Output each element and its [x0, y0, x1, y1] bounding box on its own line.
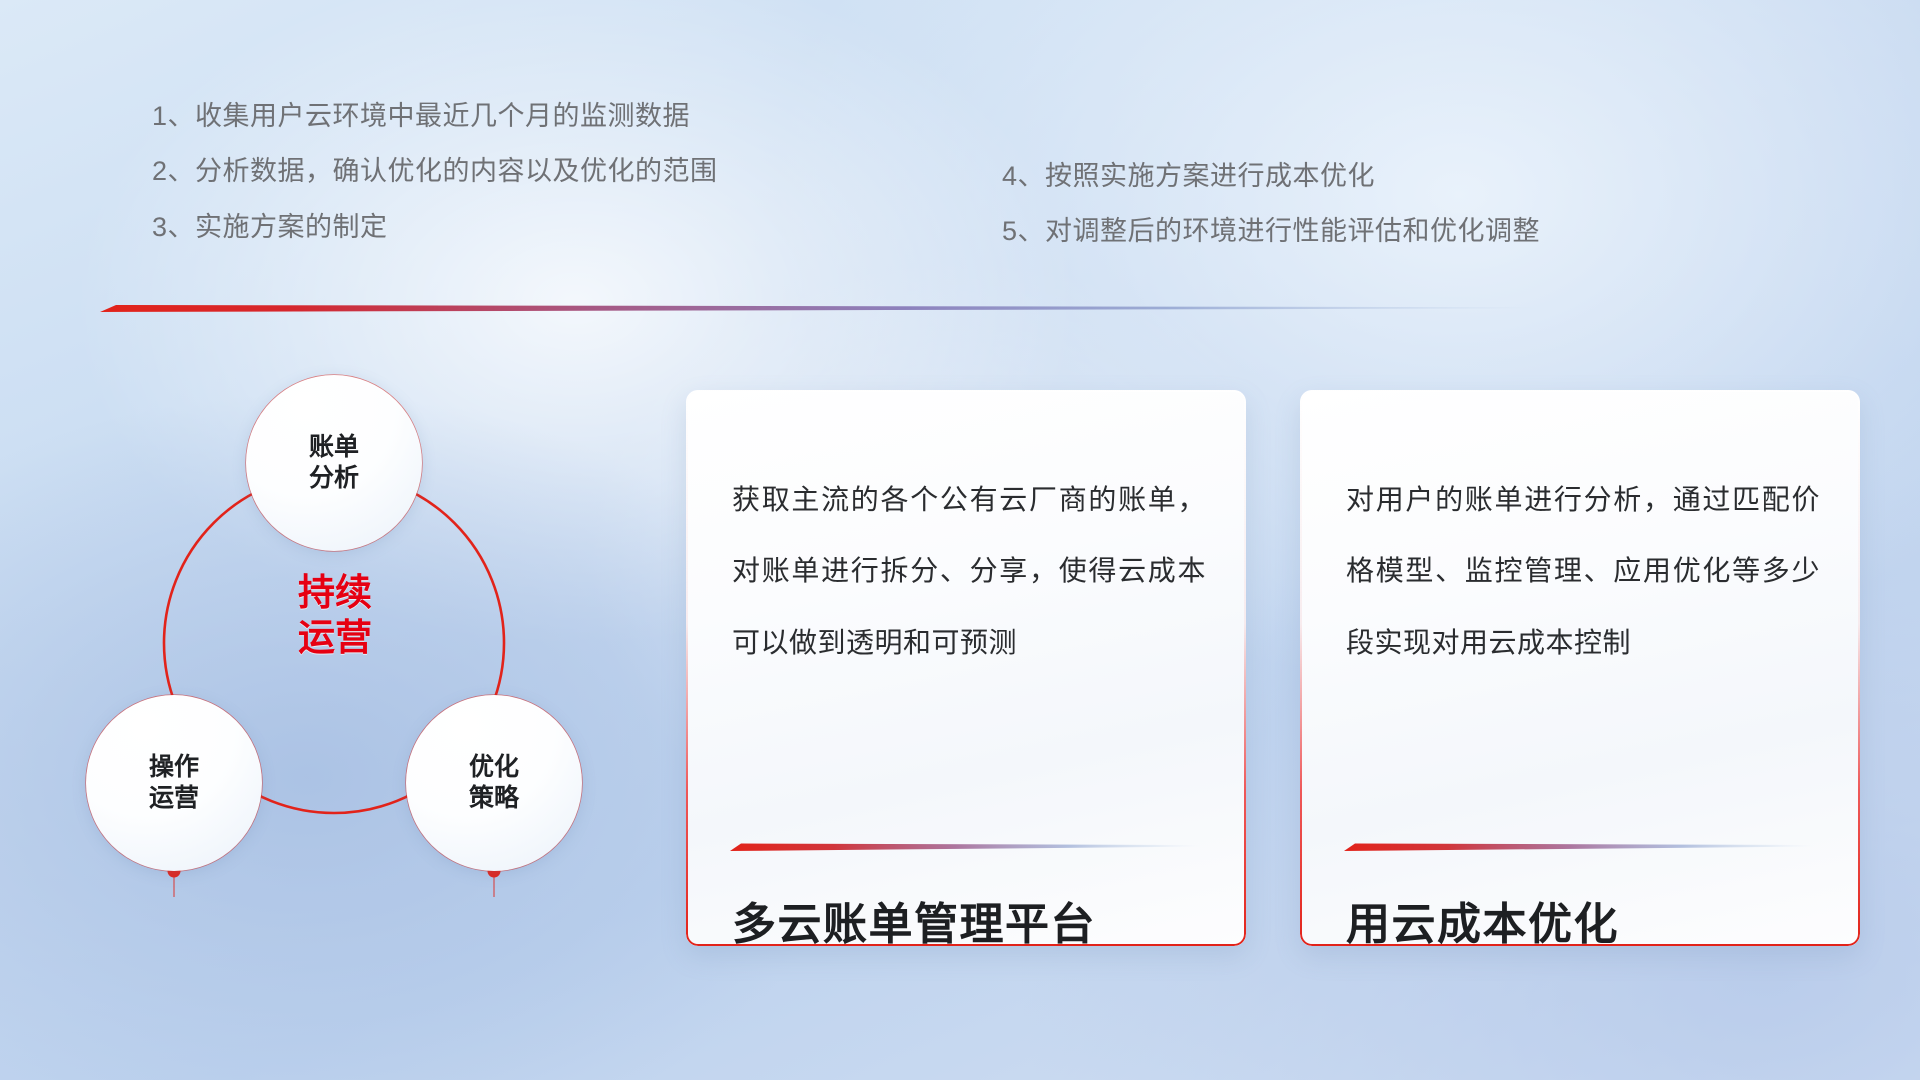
- card-1-title: 多云账单管理平台: [732, 888, 1096, 946]
- bubble-bill-analysis[interactable]: 账单 分析: [246, 375, 422, 551]
- center-label-line2: 运营: [250, 615, 420, 660]
- step-item-5: 5、对调整后的环境进行性能评估和优化调整: [1002, 215, 1540, 248]
- card-cloud-cost-optimization[interactable]: 对用户的账单进行分析，通过匹配价格模型、监控管理、应用优化等多少段实现对用云成本…: [1300, 390, 1860, 946]
- continuous-operations-diagram: 账单 分析 操作 运营 优化 策略 持续 运营: [80, 355, 660, 935]
- bubble-operations-line1: 操作: [149, 752, 199, 784]
- slide-canvas: 1、收集用户云环境中最近几个月的监测数据 2、分析数据，确认优化的内容以及优化的…: [0, 0, 1920, 1080]
- step-item-3: 3、实施方案的制定: [152, 211, 718, 244]
- diagram-center-label: 持续 运营: [250, 570, 420, 660]
- bubble-optimization-strategy[interactable]: 优化 策略: [406, 695, 582, 871]
- card-2-accent-rule: [1344, 842, 1814, 854]
- bubble-optimization-strategy-line2: 策略: [469, 783, 519, 815]
- bubble-operations-line2: 运营: [149, 783, 199, 815]
- card-2-title: 用云成本优化: [1346, 888, 1619, 946]
- bubble-operations[interactable]: 操作 运营: [86, 695, 262, 871]
- card-1-accent-rule: [730, 842, 1200, 854]
- bubble-bill-analysis-line2: 分析: [309, 463, 359, 495]
- bubble-bill-analysis-line1: 账单: [309, 432, 359, 464]
- card-multi-cloud-bill-platform[interactable]: 获取主流的各个公有云厂商的账单，对账单进行拆分、分享，使得云成本可以做到透明和可…: [686, 390, 1246, 946]
- center-label-line1: 持续: [250, 570, 420, 615]
- step-item-1: 1、收集用户云环境中最近几个月的监测数据: [152, 100, 718, 133]
- card-1-body: 获取主流的各个公有云厂商的账单，对账单进行拆分、分享，使得云成本可以做到透明和可…: [732, 464, 1206, 678]
- step-item-2: 2、分析数据，确认优化的内容以及优化的范围: [152, 155, 718, 188]
- card-2-body: 对用户的账单进行分析，通过匹配价格模型、监控管理、应用优化等多少段实现对用云成本…: [1346, 464, 1820, 678]
- section-divider: [100, 300, 1540, 316]
- bubble-optimization-strategy-line1: 优化: [469, 752, 519, 784]
- steps-list-right: 4、按照实施方案进行成本优化 5、对调整后的环境进行性能评估和优化调整: [1002, 160, 1540, 271]
- steps-list-left: 1、收集用户云环境中最近几个月的监测数据 2、分析数据，确认优化的内容以及优化的…: [152, 100, 718, 266]
- step-item-4: 4、按照实施方案进行成本优化: [1002, 160, 1540, 193]
